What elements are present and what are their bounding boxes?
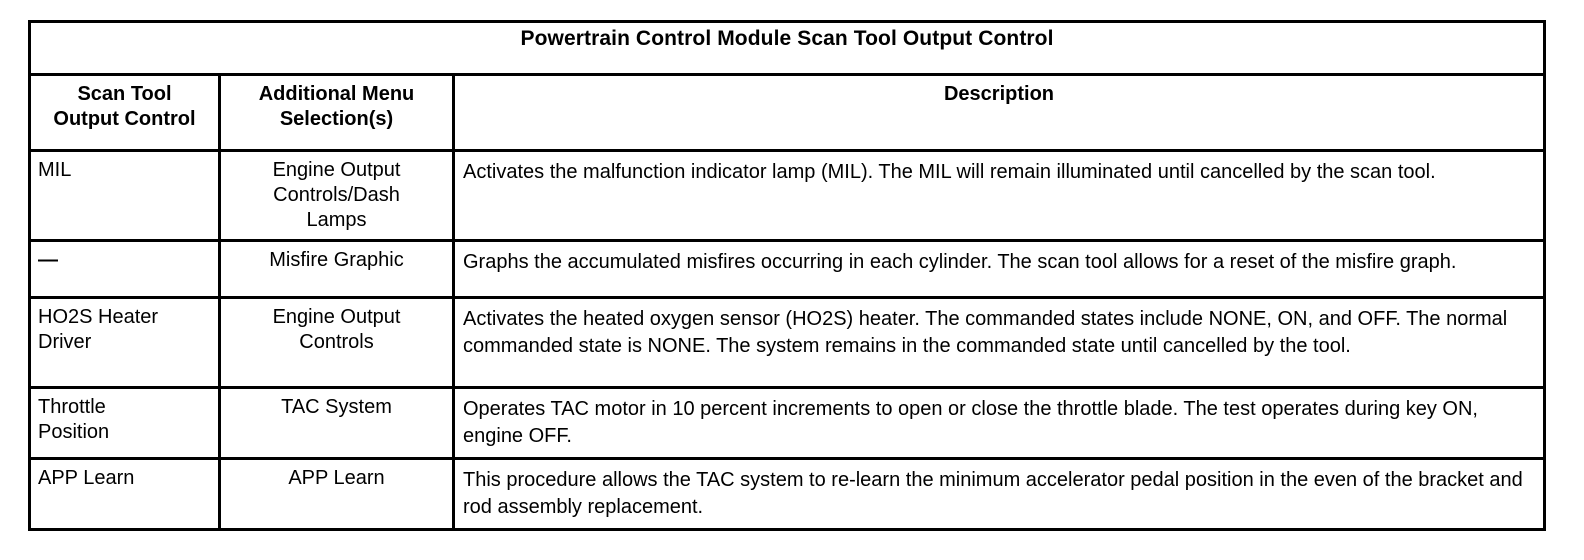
menu-selection-line-3: Lamps xyxy=(229,208,444,233)
cell-additional-menu-selection: TAC System xyxy=(220,388,454,459)
column-header-line-1: Additional Menu xyxy=(225,82,448,107)
table-title: Powertrain Control Module Scan Tool Outp… xyxy=(30,22,1545,75)
column-header-scan-tool-output-control: Scan Tool Output Control xyxy=(30,75,220,151)
cell-scan-tool-output-control: Throttle Position xyxy=(30,388,220,459)
cell-scan-tool-output-control: APP Learn xyxy=(30,459,220,530)
table-title-row: Powertrain Control Module Scan Tool Outp… xyxy=(30,22,1545,75)
table-row: APP Learn APP Learn This procedure allow… xyxy=(30,459,1545,530)
menu-selection-line-1: Engine Output xyxy=(229,158,444,183)
cell-description: Activates the malfunction indicator lamp… xyxy=(454,151,1545,241)
cell-scan-tool-output-control: HO2S Heater Driver xyxy=(30,298,220,388)
cell-additional-menu-selection: Misfire Graphic xyxy=(220,241,454,298)
menu-selection-line-2: Controls xyxy=(229,330,444,355)
table-row: MIL Engine Output Controls/Dash Lamps Ac… xyxy=(30,151,1545,241)
column-header-additional-menu-selection: Additional Menu Selection(s) xyxy=(220,75,454,151)
column-header-line-2: Output Control xyxy=(35,107,214,132)
scan-tool-line-2: Driver xyxy=(38,330,212,355)
cell-scan-tool-output-control: — xyxy=(30,241,220,298)
scan-tool-output-control-table: Powertrain Control Module Scan Tool Outp… xyxy=(28,20,1546,531)
column-header-line-1: Scan Tool xyxy=(35,82,214,107)
cell-scan-tool-output-control: MIL xyxy=(30,151,220,241)
cell-description: Operates TAC motor in 10 percent increme… xyxy=(454,388,1545,459)
menu-selection-line-1: Engine Output xyxy=(229,305,444,330)
em-dash-placeholder: — xyxy=(38,248,58,273)
scan-tool-line-1: HO2S Heater xyxy=(38,305,212,330)
menu-selection-line-2: Controls/Dash xyxy=(229,183,444,208)
document-page: Powertrain Control Module Scan Tool Outp… xyxy=(0,0,1584,560)
scan-tool-line-2: Position xyxy=(38,420,212,445)
cell-description: Graphs the accumulated misfires occurrin… xyxy=(454,241,1545,298)
cell-additional-menu-selection: Engine Output Controls xyxy=(220,298,454,388)
cell-description: This procedure allows the TAC system to … xyxy=(454,459,1545,530)
column-header-line-2: Selection(s) xyxy=(225,107,448,132)
cell-description: Activates the heated oxygen sensor (HO2S… xyxy=(454,298,1545,388)
column-header-description: Description xyxy=(454,75,1545,151)
table-row: Throttle Position TAC System Operates TA… xyxy=(30,388,1545,459)
table-row: HO2S Heater Driver Engine Output Control… xyxy=(30,298,1545,388)
scan-tool-line-1: Throttle xyxy=(38,395,212,420)
cell-additional-menu-selection: APP Learn xyxy=(220,459,454,530)
table-row: — Misfire Graphic Graphs the accumulated… xyxy=(30,241,1545,298)
table-header-row: Scan Tool Output Control Additional Menu… xyxy=(30,75,1545,151)
cell-additional-menu-selection: Engine Output Controls/Dash Lamps xyxy=(220,151,454,241)
